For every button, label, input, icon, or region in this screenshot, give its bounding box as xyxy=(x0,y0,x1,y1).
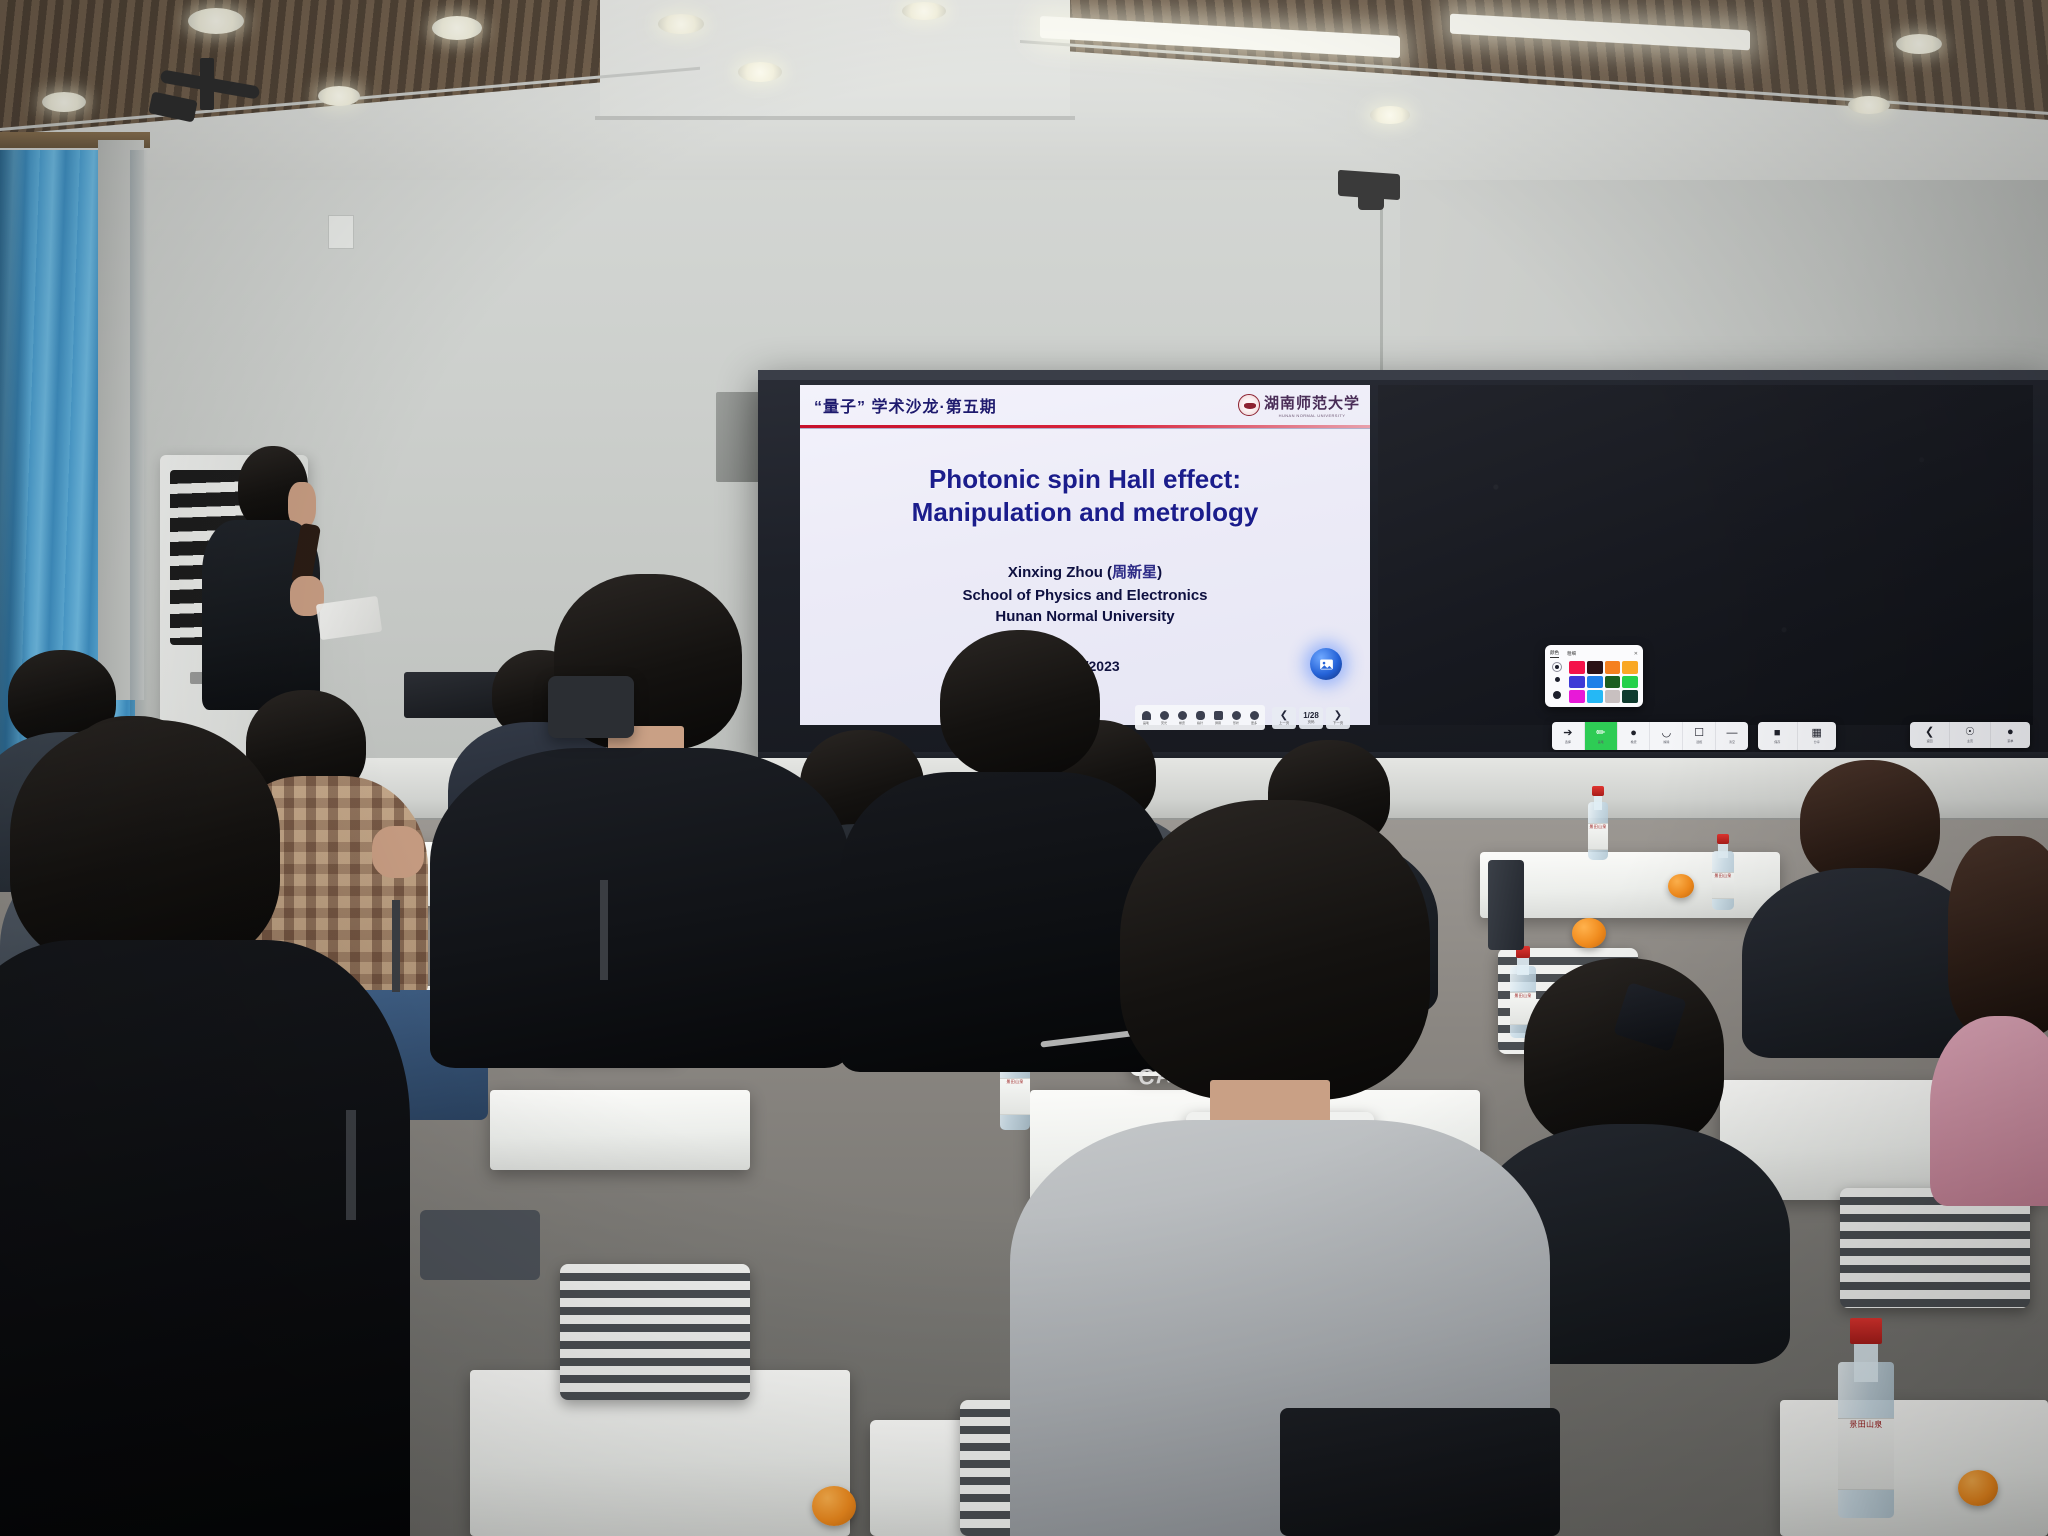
ppt-tool-more[interactable]: 更多 xyxy=(1247,708,1262,727)
color-swatch-11[interactable] xyxy=(1622,690,1638,703)
university-logo-cn: 湖南师范大学 xyxy=(1264,395,1360,412)
author-name-en: Xinxing Zhou ( xyxy=(1008,564,1112,581)
lecture-hall-scene: “量子” 学术沙龙·第五期 湖南师范大学 HUNAN NORMAL UNIVER… xyxy=(0,0,2048,1536)
tab-thickness[interactable]: 粗细 xyxy=(1567,651,1576,657)
downlight-8 xyxy=(1848,96,1890,114)
slide-title-line1: Photonic spin Hall effect: xyxy=(912,463,1259,496)
head xyxy=(940,630,1100,778)
water-bottle-9: 景田山泉 xyxy=(1838,1318,1894,1518)
color-swatch-9[interactable] xyxy=(1587,690,1603,703)
clear-icon: — xyxy=(1727,728,1738,739)
whiteboard-secondary-toolbar[interactable]: ■ 保存 ▦ 分享 xyxy=(1758,722,1836,750)
color-swatch-4[interactable] xyxy=(1569,676,1585,689)
chair-leg-1 xyxy=(392,900,400,992)
head xyxy=(1524,958,1724,1148)
orange-7 xyxy=(1958,1470,1998,1506)
university-seal-icon xyxy=(1238,394,1260,416)
slide-page-indicator: 1/28 页码 xyxy=(1299,707,1323,729)
torso xyxy=(0,940,410,1536)
color-swatch-6[interactable] xyxy=(1605,676,1621,689)
table-bottom-right xyxy=(1780,1400,2048,1536)
downlight-4 xyxy=(738,62,782,82)
water-bottle-4: 景田山泉 xyxy=(1712,834,1734,910)
orange-1 xyxy=(1572,918,1606,948)
color-panel-tabs[interactable]: 颜色 粗细 ✕ xyxy=(1550,649,1638,658)
slide-series-title: “量子” 学术沙龙·第五期 xyxy=(814,393,997,417)
ppt-tool-eraser[interactable]: 橡皮 xyxy=(1175,708,1190,727)
table-right-1 xyxy=(1480,852,1780,918)
chair-base-left xyxy=(420,1210,540,1280)
chair-bottom-right xyxy=(1280,1408,1560,1536)
prev-slide-button[interactable]: ❮ 上一页 xyxy=(1272,707,1296,729)
home-button[interactable]: ☉ 主页 xyxy=(1950,722,1990,748)
chair-leg-2 xyxy=(600,880,608,980)
downlight-9 xyxy=(1370,106,1410,124)
head xyxy=(10,720,280,970)
head xyxy=(1120,800,1430,1100)
cursor-icon: ➔ xyxy=(1563,728,1572,739)
stroke-size-medium[interactable] xyxy=(1555,677,1560,682)
screen-right-system-toolbar[interactable]: ❮ 返回 ☉ 主页 ● 菜单 xyxy=(1910,722,2030,748)
downlight-6 xyxy=(902,2,946,20)
slide-author-line: Xinxing Zhou (周新星) xyxy=(962,562,1207,585)
orange-5 xyxy=(812,1486,856,1526)
image-icon xyxy=(1318,656,1335,673)
color-swatch-8[interactable] xyxy=(1569,690,1585,703)
qr-icon: ▦ xyxy=(1812,728,1822,739)
ppt-tool-shape[interactable]: 形状 xyxy=(1229,708,1244,727)
water-bottle-3: 景田山泉 xyxy=(1588,786,1608,860)
chevron-right-icon: ❯ xyxy=(1334,711,1342,721)
chair-back-2 xyxy=(548,676,634,738)
ppt-tool-highlighter[interactable]: 荧光 xyxy=(1157,708,1172,727)
slide-title-line2: Manipulation and metrology xyxy=(912,496,1259,529)
camera-head xyxy=(1358,196,1384,210)
author-name-close: ) xyxy=(1157,564,1162,581)
torso xyxy=(1930,1016,2048,1206)
chair-front-1 xyxy=(560,1264,750,1400)
stroke-size-small[interactable] xyxy=(1555,665,1559,669)
color-swatch-3[interactable] xyxy=(1622,661,1638,674)
torso xyxy=(430,748,850,1068)
color-panel-main xyxy=(1550,661,1638,703)
chair-leg-3 xyxy=(346,1110,356,1220)
downlight-3 xyxy=(318,86,360,106)
stroke-size-large[interactable] xyxy=(1553,691,1561,699)
author-name-cn: 周新星 xyxy=(1112,564,1157,581)
gallery-orb-button[interactable] xyxy=(1310,648,1342,680)
chair-right-2 xyxy=(1840,1188,2030,1308)
menu-button[interactable]: ● 菜单 xyxy=(1991,722,2030,748)
ppt-tool-pointer[interactable]: 指针 xyxy=(1193,708,1208,727)
head xyxy=(1948,836,2048,1036)
wall-notice-card xyxy=(328,215,354,249)
pen-tool-button[interactable]: ✏ 画笔 xyxy=(1585,722,1618,750)
wipe-tool-button[interactable]: ◡ 擦除 xyxy=(1650,722,1683,750)
university-logo: 湖南师范大学 HUNAN NORMAL UNIVERSITY xyxy=(1238,392,1360,418)
chevron-left-icon: ❮ xyxy=(1280,711,1288,721)
downlight-2 xyxy=(432,16,482,40)
frame-tool-button[interactable]: ☐ 选框 xyxy=(1683,722,1716,750)
university-logo-en: HUNAN NORMAL UNIVERSITY xyxy=(1264,413,1360,418)
dot-icon: ● xyxy=(2007,727,2014,738)
slide-title: Photonic spin Hall effect: Manipulation … xyxy=(912,463,1259,528)
ppt-slide-navigation[interactable]: ❮ 上一页 1/28 页码 ❯ 下一页 xyxy=(1272,706,1364,730)
clear-tool-button[interactable]: — 清空 xyxy=(1716,722,1748,750)
orange-2 xyxy=(1668,874,1694,898)
screen-glare xyxy=(1378,385,2033,725)
back-button[interactable]: ❮ 返回 xyxy=(1910,722,1950,748)
curtain-edge-shadow xyxy=(130,150,148,750)
home-icon: ☉ xyxy=(1965,727,1975,738)
chevron-left-icon: ❮ xyxy=(1925,727,1934,738)
affiliation-line-2: Hunan Normal University xyxy=(962,606,1207,628)
ceiling-edge-center xyxy=(595,116,1075,120)
ppt-annotation-toolbar[interactable]: 画笔 荧光 橡皮 指针 屏幕 形状 更多 xyxy=(1135,705,1265,730)
table-center-left xyxy=(490,1090,750,1170)
slide-header: “量子” 学术沙龙·第五期 湖南师范大学 HUNAN NORMAL UNIVER… xyxy=(800,385,1370,425)
save-button[interactable]: ■ 保存 xyxy=(1758,722,1798,750)
color-swatch-10[interactable] xyxy=(1605,690,1621,703)
stroke-size-column[interactable] xyxy=(1550,661,1564,703)
frame-icon: ☐ xyxy=(1694,728,1704,739)
smart-display-top-edge xyxy=(758,370,2048,380)
share-qr-button[interactable]: ▦ 分享 xyxy=(1798,722,1837,750)
color-swatch-5[interactable] xyxy=(1587,676,1603,689)
wipe-icon: ◡ xyxy=(1662,728,1672,739)
close-icon[interactable]: ✕ xyxy=(1634,651,1638,657)
eraser-tool-button[interactable]: ● 橡皮 xyxy=(1618,722,1651,750)
color-swatch-0[interactable] xyxy=(1569,661,1585,674)
color-picker-panel[interactable]: 颜色 粗细 ✕ xyxy=(1545,645,1643,707)
whiteboard-annotation-toolbar[interactable]: ➔ 选择 ✏ 画笔 ● 橡皮 ◡ 擦除 ☐ 选框 — 清空 xyxy=(1552,722,1748,750)
tab-color[interactable]: 颜色 xyxy=(1550,650,1559,658)
whiteboard-screen[interactable] xyxy=(1378,385,2033,725)
pen-icon: ✏ xyxy=(1596,728,1605,739)
next-slide-button[interactable]: ❯ 下一页 xyxy=(1326,707,1350,729)
eraser-icon: ● xyxy=(1630,728,1637,739)
downlight-5 xyxy=(658,14,704,34)
ppt-tool-pen[interactable]: 画笔 xyxy=(1139,708,1154,727)
downlight-10 xyxy=(42,92,86,112)
select-tool-button[interactable]: ➔ 选择 xyxy=(1552,722,1585,750)
slide-author-block: Xinxing Zhou (周新星) School of Physics and… xyxy=(962,562,1207,628)
downlight-7 xyxy=(1896,34,1942,54)
color-swatch-grid[interactable] xyxy=(1569,661,1638,703)
thermos-flask xyxy=(1488,860,1524,950)
color-swatch-1[interactable] xyxy=(1587,661,1603,674)
downlight-1 xyxy=(188,8,244,34)
save-icon: ■ xyxy=(1774,728,1781,739)
ppt-tool-screen[interactable]: 屏幕 xyxy=(1211,708,1226,727)
hand xyxy=(372,826,424,878)
affiliation-line-1: School of Physics and Electronics xyxy=(962,585,1207,607)
color-swatch-2[interactable] xyxy=(1605,661,1621,674)
color-swatch-7[interactable] xyxy=(1622,676,1638,689)
